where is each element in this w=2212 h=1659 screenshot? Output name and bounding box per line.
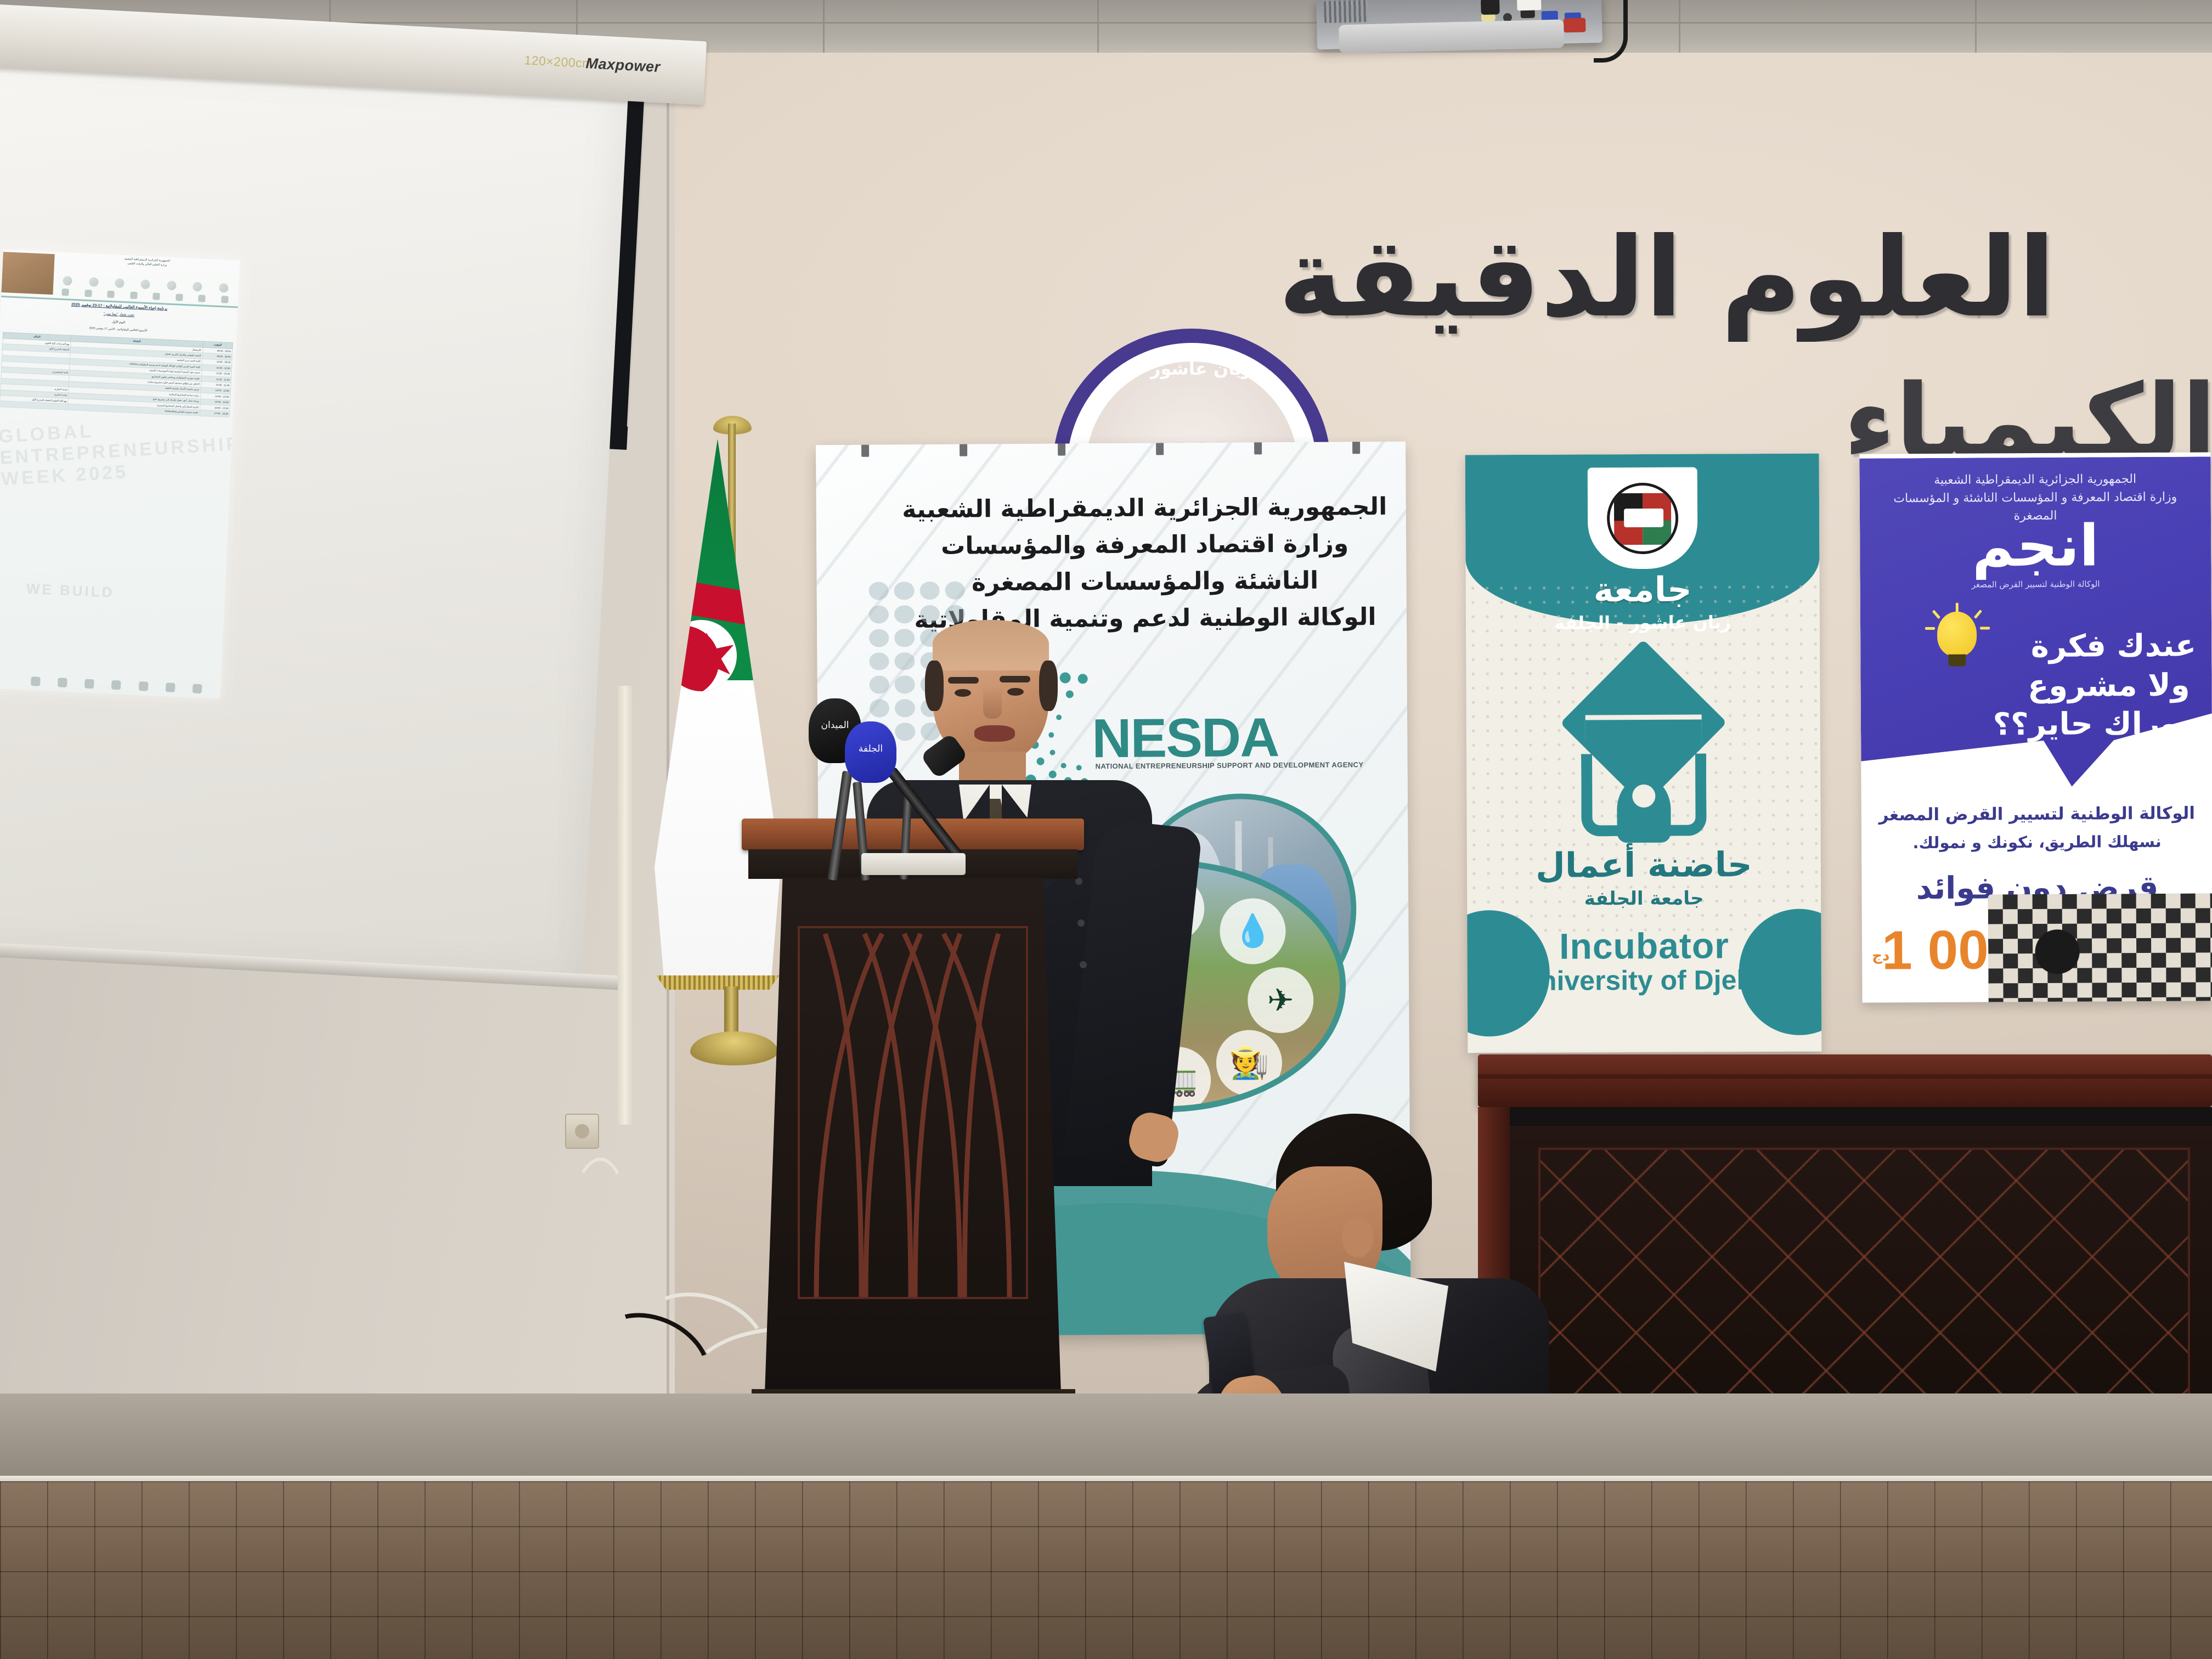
speaker-podium — [756, 819, 1070, 1487]
angem-product-photo — [1988, 893, 2212, 1002]
mic-stand-1 — [827, 771, 853, 881]
incubator-university-ar2: زيان عاشور - الجلفة — [1466, 612, 1820, 634]
speaker-brow-right — [1000, 676, 1030, 682]
conference-hall-scene: 120×200cm Maxpower الجمهورية الجزائرية ا… — [0, 0, 2212, 1659]
power-outlet[interactable] — [565, 1114, 599, 1149]
angem-logo-subtitle: الوكالة الوطنية لتسيير القرض المصغر — [1860, 578, 2211, 590]
wall-conduit — [618, 686, 632, 1125]
angem-logo-mark: انجم — [1860, 511, 2211, 580]
podium-lattice-pattern — [800, 928, 1026, 1297]
projector-vent — [1324, 0, 1368, 23]
flag-stand-stem — [724, 986, 738, 1037]
water-drop-icon: 💧 — [1220, 898, 1286, 964]
table-body: 08:00 - 09:00الاستقبالبهو المدرجات كلية … — [0, 338, 233, 417]
projected-slide: الجمهورية الجزائرية الديمقراطية الشعبية … — [0, 250, 240, 699]
angem-currency-label: دج — [1872, 947, 1889, 964]
incubator-subtitle-ar: جامعة الجلفة — [1467, 887, 1821, 911]
slide-footer-logos — [22, 671, 211, 694]
mic-head-gooseneck — [920, 733, 968, 780]
incubator-crest-shield — [1587, 467, 1697, 569]
desk-gap — [1491, 1107, 2212, 1126]
slide-watermark-secondary: WE BUILD — [26, 580, 115, 601]
graduation-cap-base-icon — [1585, 720, 1701, 753]
microphone-cluster: الميدان الجلفة — [785, 689, 1015, 886]
incubator-title-ar: حاضنة أعمال — [1467, 844, 1821, 886]
screen-brand-label: Maxpower — [585, 55, 661, 76]
desk-top — [1478, 1054, 2212, 1107]
projector-power-plug — [1564, 18, 1586, 32]
seal-arabic-text: جامعة زيان عاشور - الجلفة — [1067, 358, 1317, 379]
angem-body-line1: الوكالة الوطنية لتسيير القرض المصغر — [1874, 803, 2200, 825]
nesda-header-line2: وزارة اقتصاد المعرفة والمؤسسات — [899, 526, 1391, 565]
table-cell: 16:00 - 17:00 — [200, 410, 230, 417]
screen-model-label: 120×200cm — [524, 53, 594, 71]
angem-question-line3: وراك حاير؟؟ — [1883, 706, 2179, 743]
nesda-header-line3: الناشئة والمؤسسات المصغرة — [899, 562, 1391, 602]
angem-banner: الجمهورية الجزائرية الديمقراطية الشعبية … — [1859, 452, 2212, 1002]
university-crest-icon — [1606, 482, 1678, 554]
slide-hero-photo — [1, 252, 54, 295]
angem-question-line2: ولا مشروع — [1882, 668, 2190, 705]
incubator-banner: جامعة زيان عاشور - الجلفة حاضنة أعمال جا… — [1465, 454, 1822, 1053]
angem-question-line1: عندك فكرة — [1882, 628, 2196, 665]
ceiling-projector — [1316, 0, 1602, 49]
wall-seam — [667, 53, 669, 1479]
mic-base-plate — [861, 853, 966, 875]
angem-loan-amount: 1 00 — [1882, 918, 1989, 982]
slide-schedule-table: التوقيتالنشاطالمكان 08:00 - 09:00الاستقب… — [0, 332, 233, 417]
drone-icon: ✈ — [1248, 967, 1314, 1034]
tiled-wainscot — [0, 1481, 2212, 1659]
farmer-icon: 🧑‍🌾 — [1216, 1030, 1283, 1096]
podium-panel-frame — [798, 926, 1028, 1299]
projector-lens-housing — [1339, 19, 1564, 53]
mic-flag-el-djelfa: الجلفة — [845, 741, 896, 757]
angem-header-line1: الجمهورية الجزائرية الديمقراطية الشعبية — [1871, 470, 2200, 489]
mic-gooseneck — [887, 767, 963, 860]
nesda-header-line1: الجمهورية الجزائرية الديمقراطية الشعبية — [899, 489, 1391, 528]
angem-body-line2: نسهلك الطريق، نكونك و نمولك. — [1874, 832, 2200, 852]
nesda-header-text: الجمهورية الجزائرية الديمقراطية الشعبية … — [899, 489, 1392, 639]
incubator-person-icon — [1617, 777, 1671, 843]
wall-sign-exact-sciences: العلوم الدقيقة — [1278, 214, 2212, 342]
incubator-university-ar: جامعة — [1466, 569, 1820, 611]
speaker-brow-left — [948, 677, 979, 684]
slide-watermark: GLOBAL ENTREPRENEURSHIP WEEK 2025 — [0, 413, 229, 490]
attendee-ear — [1342, 1217, 1374, 1257]
